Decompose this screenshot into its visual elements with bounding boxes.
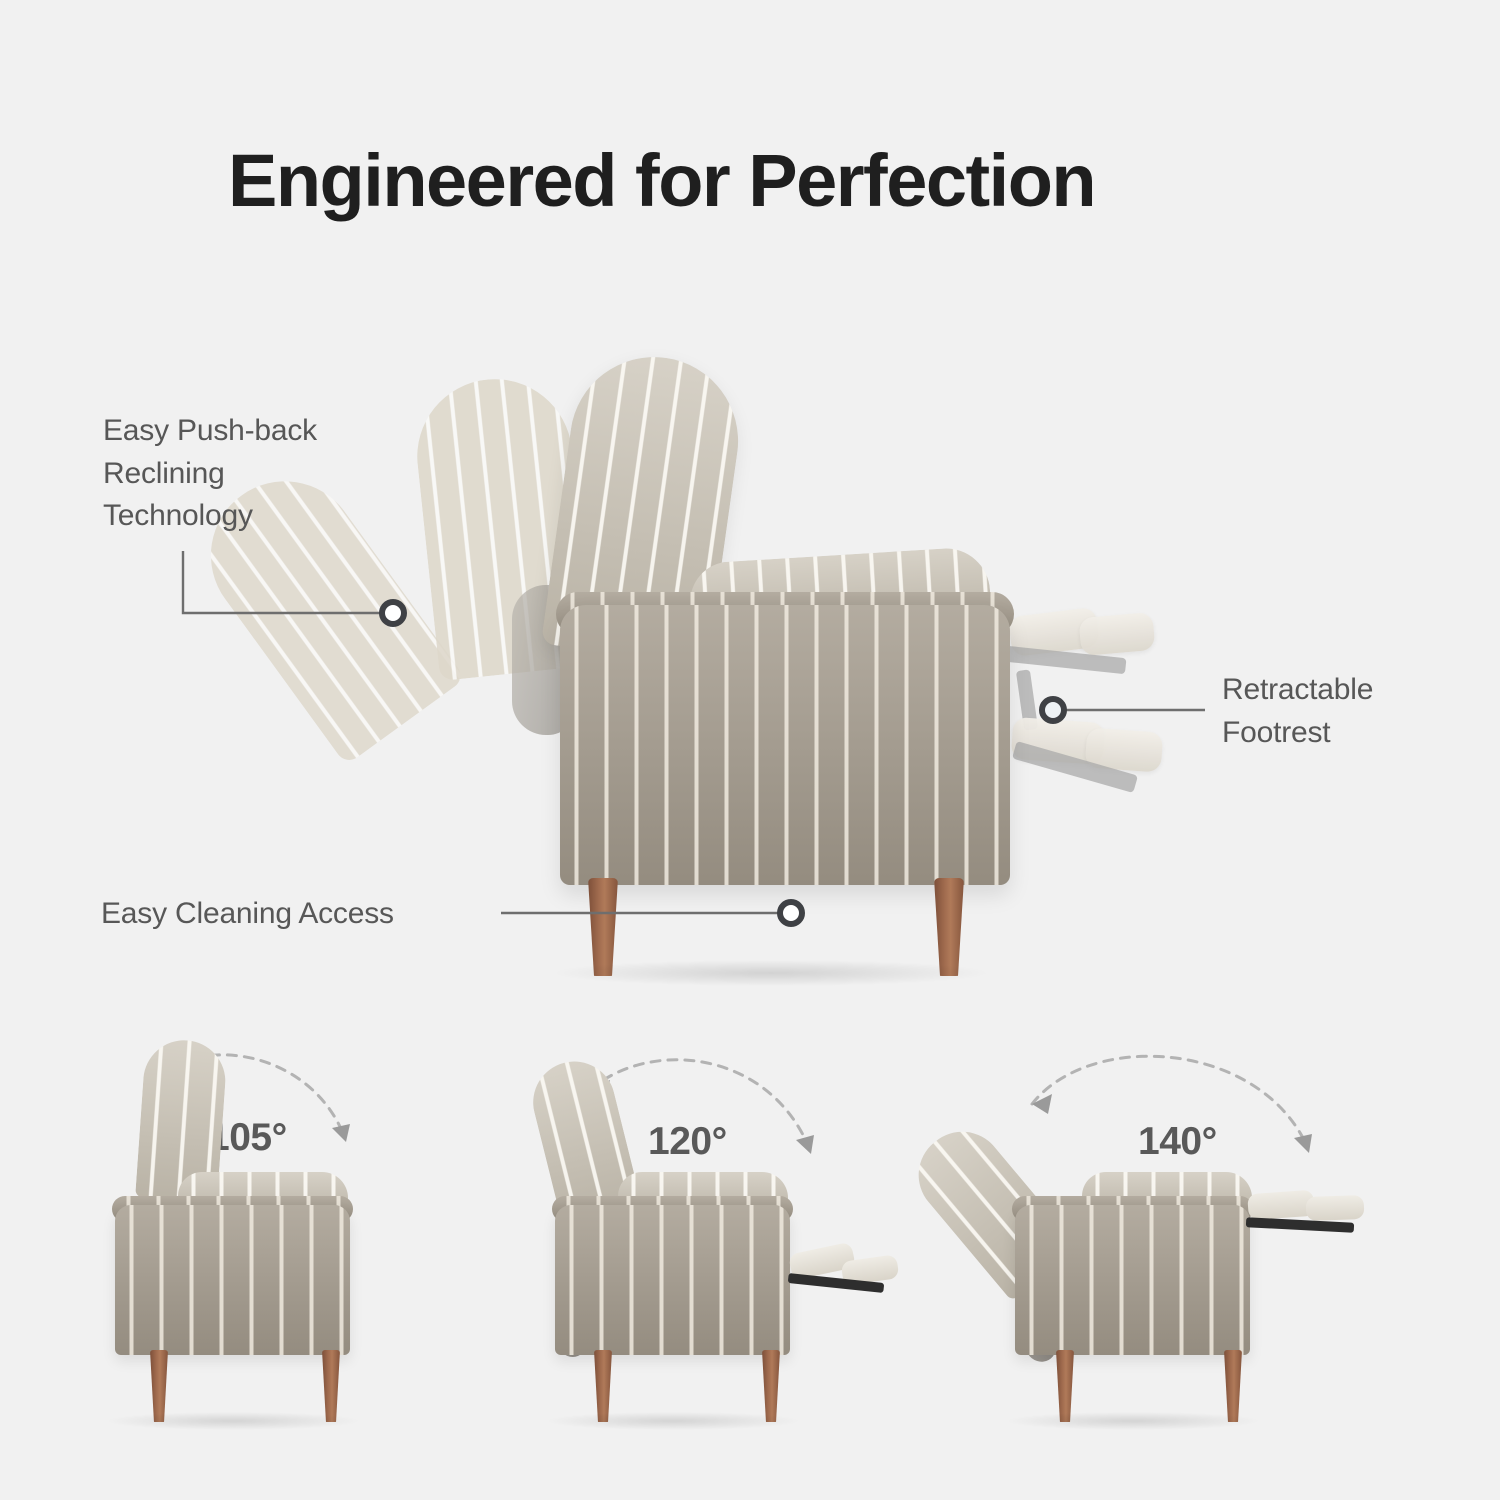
wooden-leg-back-105: [322, 1350, 340, 1422]
wooden-leg-back: [934, 878, 964, 976]
floor-shadow-105: [108, 1412, 358, 1430]
annotation-label-push-back: Easy Push-back Reclining Technology: [103, 410, 317, 538]
footrest-panel-outer-140: [1306, 1195, 1365, 1221]
annotation-label-footrest: Retractable Footrest: [1222, 669, 1373, 754]
footrest-panel-upper-outer: [1078, 612, 1155, 656]
wooden-leg-front-105: [150, 1350, 168, 1422]
floor-shadow-140: [1008, 1412, 1258, 1430]
chair-body-120: [555, 1205, 790, 1355]
wooden-leg-front-140: [1056, 1350, 1074, 1422]
recline-position-120: 120°: [500, 1020, 940, 1440]
footrest-panel-inner-140: [1247, 1190, 1315, 1221]
infographic-page: Engineered for Perfection: [0, 0, 1500, 1500]
floor-shadow-120: [548, 1412, 798, 1430]
angle-label-120: 120°: [648, 1120, 727, 1164]
wooden-leg-back-120: [762, 1350, 780, 1422]
angle-label-140: 140°: [1138, 1120, 1217, 1164]
chair-body-105: [115, 1205, 350, 1355]
recline-position-105: 105°: [60, 1020, 500, 1440]
chair-body: [560, 605, 1010, 885]
chair-body-140: [1015, 1205, 1250, 1355]
page-title: Engineered for Perfection: [228, 138, 1095, 223]
wooden-leg-front-120: [594, 1350, 612, 1422]
wooden-leg-back-140: [1224, 1350, 1242, 1422]
annotation-label-cleaning: Easy Cleaning Access: [101, 893, 394, 936]
recline-positions-row: 105° 120°: [0, 1020, 1500, 1450]
wooden-leg-front: [588, 878, 618, 976]
chair-floor-shadow: [556, 960, 986, 986]
recline-position-140: 140°: [960, 1020, 1400, 1440]
